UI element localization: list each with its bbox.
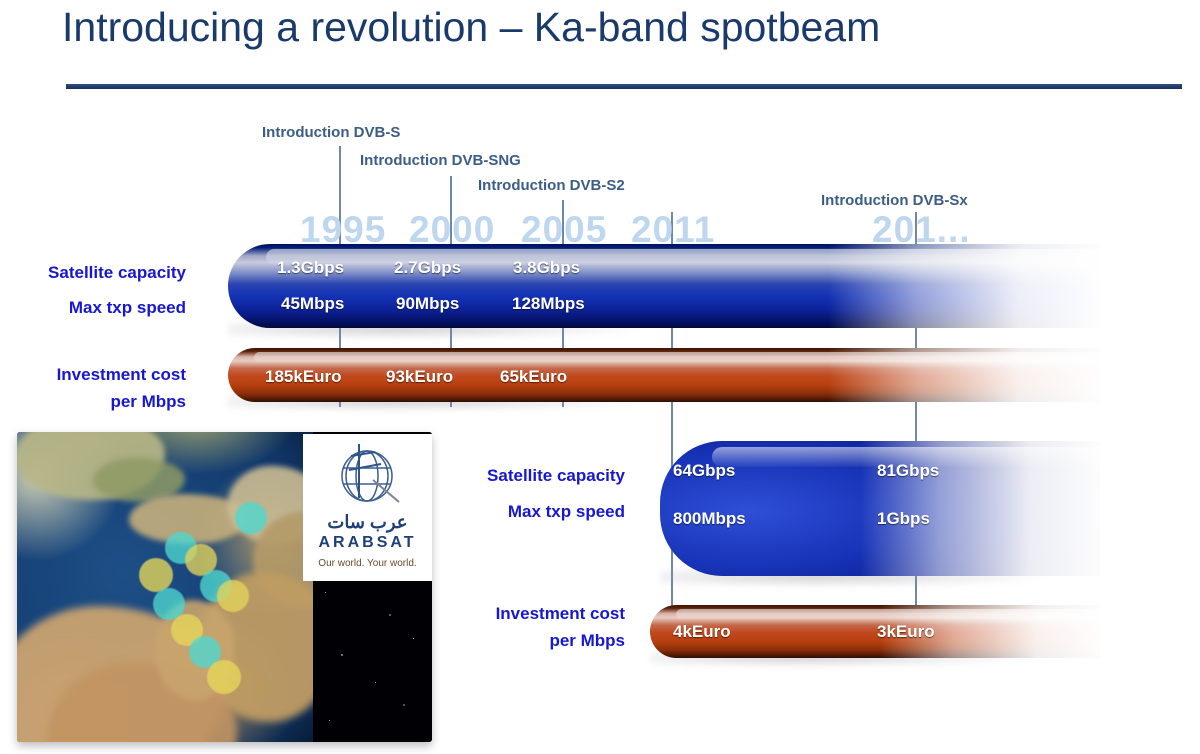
kaband-cost-label-line2: per Mbps: [420, 627, 625, 654]
arabsat-name: ARABSAT: [303, 534, 432, 552]
legacy-capacity-value-2000: 2.7Gbps: [394, 258, 461, 278]
slide: Introducing a revolution – Ka-band spotb…: [0, 0, 1200, 754]
kaband-capacity-value-2011: 64Gbps: [673, 461, 735, 481]
kaband-capacity-value-201x: 81Gbps: [877, 461, 939, 481]
kaband-speed-value-201x: 1Gbps: [877, 509, 930, 529]
kaband-speed-label: Max txp speed: [420, 498, 625, 525]
kaband-cost-label-line1: Investment cost: [420, 600, 625, 627]
arabsat-globe-icon: [329, 440, 405, 514]
legacy-capacity-value-2005: 3.8Gbps: [513, 258, 580, 278]
kaband-capacity-label: Satellite capacity: [420, 462, 625, 489]
spotbeam-cyan-1: [235, 502, 267, 534]
kaband-speed-value-2011: 800Mbps: [673, 509, 746, 529]
timeline-caption-dvb-sx: Introduction DVB-Sx: [821, 192, 968, 209]
kaband-cost-value-2011: 4kEuro: [673, 622, 731, 642]
legacy-capacity-bar: [228, 244, 1100, 328]
legacy-cost-value-2005: 65kEuro: [500, 367, 567, 387]
page-title: Introducing a revolution – Ka-band spotb…: [62, 4, 880, 51]
arabsat-tagline: Our world. Your world.: [303, 558, 432, 569]
title-divider: [66, 84, 1182, 89]
legacy-cost-bar: [228, 348, 1100, 402]
legacy-speed-label: Max txp speed: [0, 294, 186, 321]
spotbeam-yellow-2: [139, 558, 173, 592]
legacy-speed-value-2000: 90Mbps: [396, 294, 459, 314]
legacy-cost-label: Investment cost per Mbps: [0, 361, 186, 415]
timeline-caption-dvb-s2: Introduction DVB-S2: [478, 177, 625, 194]
legacy-cost-value-2000: 93kEuro: [386, 367, 453, 387]
timeline-caption-dvb-sng: Introduction DVB-SNG: [360, 152, 521, 169]
legacy-cost-label-line1: Investment cost: [0, 361, 186, 388]
kaband-cost-label: Investment cost per Mbps: [420, 600, 625, 654]
legacy-cost-label-line2: per Mbps: [0, 388, 186, 415]
earth-globe: [17, 432, 313, 742]
legacy-capacity-value-1995: 1.3Gbps: [277, 258, 344, 278]
arabsat-logo: عرب سات ARABSAT Our world. Your world.: [303, 434, 432, 581]
legacy-speed-value-1995: 45Mbps: [281, 294, 344, 314]
legacy-capacity-bar-fade: [828, 244, 1100, 328]
kaband-cost-value-201x: 3kEuro: [877, 622, 935, 642]
legacy-cost-value-1995: 185kEuro: [265, 367, 342, 387]
legacy-speed-value-2005: 128Mbps: [512, 294, 585, 314]
arabsat-arabic-name: عرب سات: [303, 512, 432, 533]
spotbeam-yellow-3: [217, 580, 249, 612]
legacy-cost-bar-fade: [828, 348, 1100, 402]
legacy-capacity-label: Satellite capacity: [0, 259, 186, 286]
spotbeam-yellow-5: [207, 660, 241, 694]
timeline-caption-dvb-s: Introduction DVB-S: [262, 124, 400, 141]
